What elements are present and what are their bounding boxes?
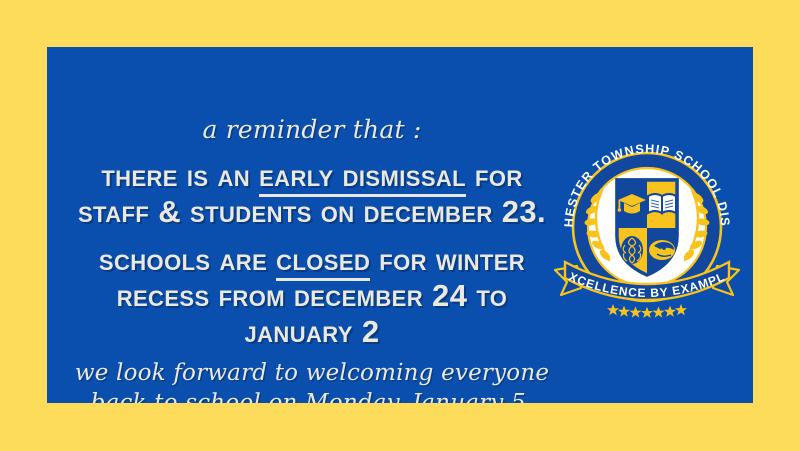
announcement-poster: a reminder that : There is an early dism…: [0, 0, 800, 451]
para2-line1-underlined: closed: [276, 242, 370, 281]
star-row: [607, 304, 687, 318]
para1-line1-before: There is an: [101, 158, 259, 193]
blue-content-panel: a reminder that : There is an early dism…: [47, 47, 753, 403]
school-district-logo: MANCHESTER TOWNSHIP SCHOOL DISTRICT: [547, 132, 747, 322]
closing-line-1: we look forward to welcoming everyone: [47, 360, 577, 387]
pinecone-icon: [621, 236, 643, 264]
closing-line-2: back to school on Monday, January 5.: [47, 390, 577, 403]
star-icon: [664, 306, 676, 317]
para2-line1: Schools are closed for winter: [47, 244, 577, 275]
para1-line1-after: for: [466, 158, 523, 193]
logo-svg: MANCHESTER TOWNSHIP SCHOOL DISTRICT: [547, 132, 747, 322]
star-icon: [618, 306, 630, 317]
para1-line1: There is an early dismissal for: [47, 160, 577, 191]
para2-line1-after: for winter: [370, 242, 525, 277]
eagle-head-icon: [649, 240, 675, 260]
star-icon: [653, 306, 665, 317]
para2-line1-before: Schools are: [99, 242, 276, 277]
star-icon: [641, 307, 653, 318]
intro-line: a reminder that :: [47, 115, 577, 145]
star-icon: [607, 304, 619, 315]
open-book-icon: [648, 194, 676, 213]
para2-line2: recess from December 24 to: [47, 280, 577, 311]
paragraph-winter-recess: Schools are closed for winter recess fro…: [47, 244, 577, 347]
para2-line3: January 2: [47, 316, 577, 347]
para1-line2: Staff & Students on December 23.: [47, 196, 577, 227]
star-icon: [675, 304, 687, 315]
paragraph-early-dismissal: There is an early dismissal for Staff & …: [47, 160, 577, 227]
announcement-text-column: a reminder that : There is an early dism…: [47, 47, 577, 403]
closing-message: we look forward to welcoming everyone ba…: [47, 360, 577, 403]
star-icon: [630, 306, 642, 317]
para1-line1-underlined: early dismissal: [259, 158, 466, 197]
